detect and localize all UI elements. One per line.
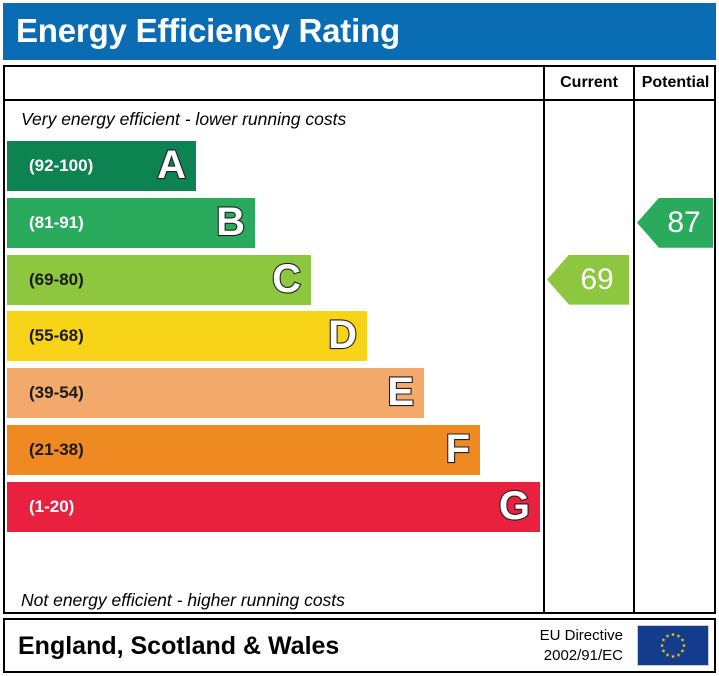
column-header-current: Current [545, 71, 633, 95]
band-letter-g: G [499, 482, 530, 532]
eu-flag-icon [637, 625, 709, 666]
band-range-a: (92-100) [29, 141, 93, 191]
band-range-e: (39-54) [29, 368, 84, 418]
column-divider-potential [633, 67, 635, 612]
eu-directive-line2: 2002/91/EC [503, 646, 623, 666]
energy-efficiency-rating-chart: Energy Efficiency Rating Current Potenti… [0, 0, 719, 676]
band-letter-b: B [216, 198, 245, 248]
band-range-c: (69-80) [29, 255, 84, 305]
band-letter-c: C [272, 255, 301, 305]
band-range-f: (21-38) [29, 425, 84, 475]
chart-title-banner: Energy Efficiency Rating [3, 3, 716, 60]
rating-band-b: (81-91)B [7, 198, 255, 248]
column-divider-current [543, 67, 545, 612]
column-header-potential: Potential [635, 71, 716, 95]
rating-band-g: (1-20)G [7, 482, 540, 532]
rating-marker-potential: 87 [637, 198, 713, 248]
footer: England, Scotland & Wales EU Directive 2… [3, 618, 716, 673]
rating-bands: (92-100)A(81-91)B(69-80)C(55-68)D(39-54)… [5, 67, 541, 612]
rating-band-a: (92-100)A [7, 141, 196, 191]
band-range-b: (81-91) [29, 198, 84, 248]
rating-band-c: (69-80)C [7, 255, 311, 305]
rating-band-e: (39-54)E [7, 368, 424, 418]
band-letter-f: F [446, 425, 470, 475]
band-letter-e: E [387, 368, 414, 418]
rating-band-d: (55-68)D [7, 311, 367, 361]
band-range-d: (55-68) [29, 311, 84, 361]
page-title: Energy Efficiency Rating [16, 10, 400, 52]
rating-band-f: (21-38)F [7, 425, 480, 475]
rating-marker-current: 69 [547, 255, 629, 305]
band-letter-d: D [328, 311, 357, 361]
eu-directive-line1: EU Directive [503, 626, 623, 646]
eu-directive-label: EU Directive 2002/91/EC [503, 626, 623, 666]
band-letter-a: A [157, 141, 186, 191]
band-range-g: (1-20) [29, 482, 74, 532]
footer-region-label: England, Scotland & Wales [18, 630, 339, 662]
rating-grid: Current Potential Very energy efficient … [3, 65, 716, 614]
